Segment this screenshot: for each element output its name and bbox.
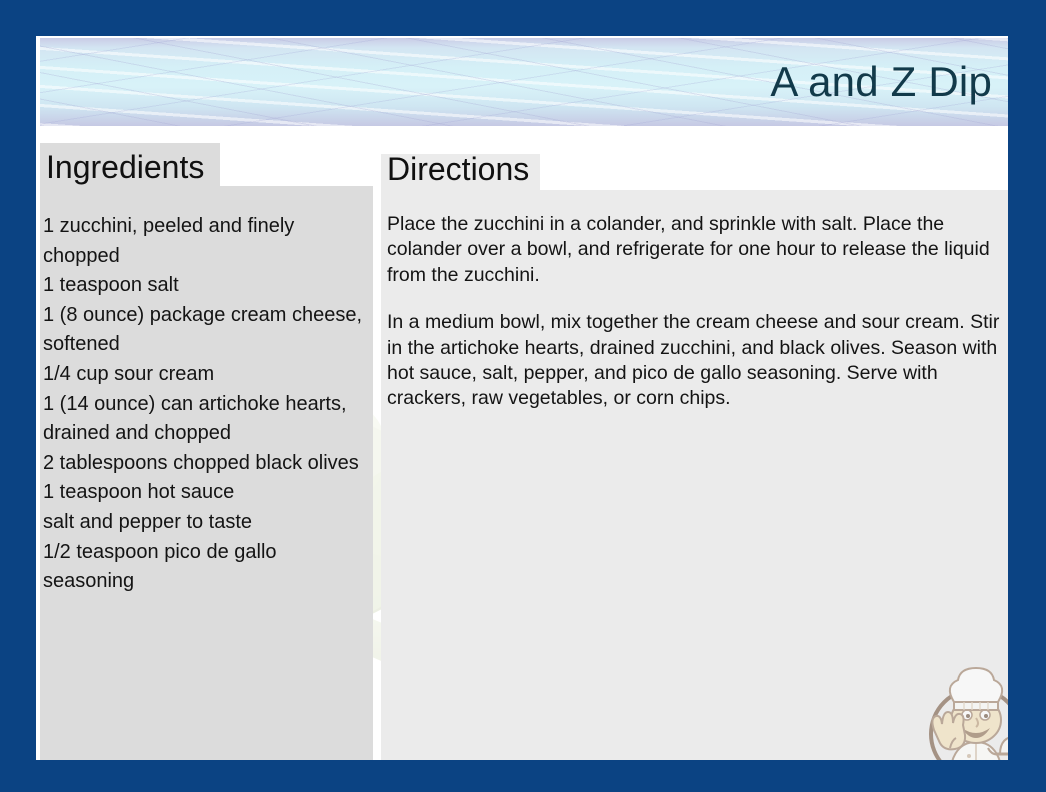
recipe-card: A and Z Dip xyxy=(0,0,1046,792)
list-item: 1 (14 ounce) can artichoke hearts, drain… xyxy=(43,390,373,449)
card-border-right xyxy=(1008,18,1028,792)
list-item: salt and pepper to taste xyxy=(43,508,373,538)
header-banner: A and Z Dip xyxy=(40,38,1022,126)
ingredients-tab-notch xyxy=(220,143,373,186)
list-item: 1 teaspoon salt xyxy=(43,271,373,301)
directions-heading: Directions xyxy=(387,153,529,185)
ingredients-list: 1 zucchini, peeled and finely chopped 1 … xyxy=(43,212,373,597)
directions-paragraph: In a medium bowl, mix together the cream… xyxy=(387,310,1012,412)
directions-paragraph: Place the zucchini in a colander, and sp… xyxy=(387,212,1012,288)
card-border-bottom xyxy=(18,760,1046,774)
recipe-title: A and Z Dip xyxy=(770,61,992,103)
list-item: 2 tablespoons chopped black olives xyxy=(43,449,373,479)
list-item: 1/4 cup sour cream xyxy=(43,360,373,390)
directions-tab-notch xyxy=(540,154,1021,190)
card-border-top xyxy=(18,18,1046,36)
ingredients-heading: Ingredients xyxy=(46,151,204,183)
card-border-left xyxy=(18,18,36,792)
list-item: 1 (8 ounce) package cream cheese, soften… xyxy=(43,301,373,360)
list-item: 1/2 teaspoon pico de gallo seasoning xyxy=(43,538,373,597)
list-item: 1 zucchini, peeled and finely chopped xyxy=(43,212,373,271)
directions-text: Place the zucchini in a colander, and sp… xyxy=(387,212,1012,412)
list-item: 1 teaspoon hot sauce xyxy=(43,478,373,508)
